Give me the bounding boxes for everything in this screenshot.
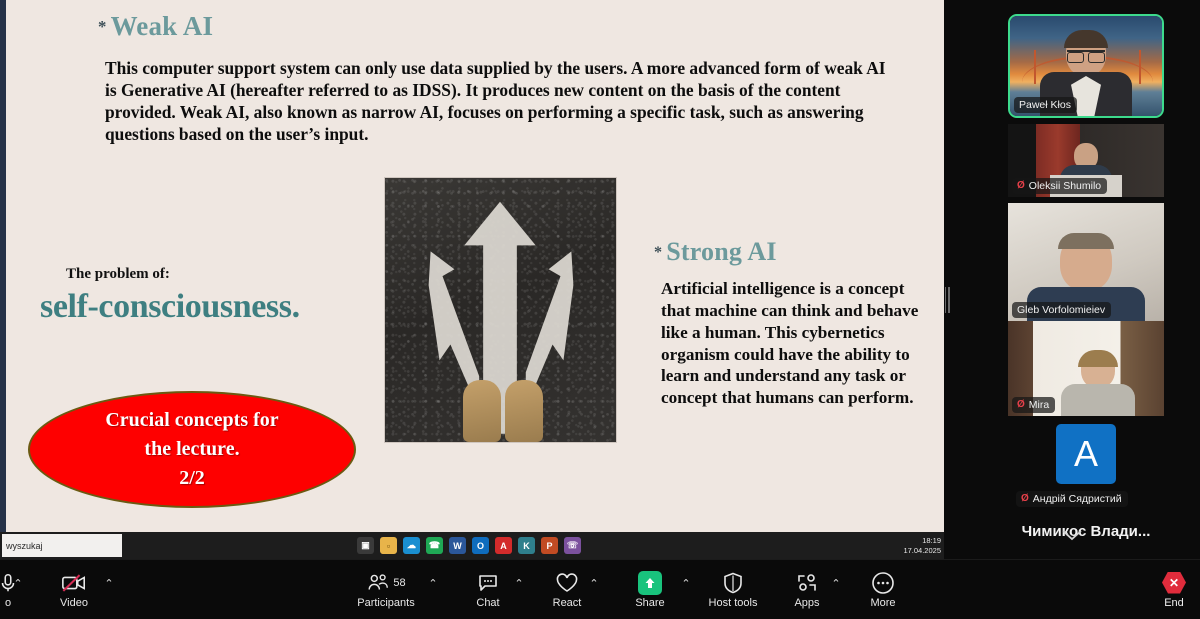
participants-count: 58 (393, 577, 405, 589)
shared-screen-region[interactable]: *Weak AI This computer support system ca… (0, 0, 944, 559)
problem-keyword: self-consciousness. (40, 288, 300, 326)
more-button[interactable]: More (860, 560, 906, 619)
share-button[interactable]: Share (626, 560, 674, 619)
filmstrip-drag-handle[interactable] (944, 283, 950, 317)
file-explorer-icon[interactable]: ▫ (380, 537, 397, 554)
viber-icon[interactable]: ☏ (564, 537, 581, 554)
right-shoe (505, 380, 543, 442)
windows-taskbar: wyszukaj ▣ ▫ ☁ ☎ W O A K P ☏ 18:19 17.04… (0, 532, 944, 559)
heart-icon (555, 571, 579, 595)
participant-name: Gleb Vorfolomieiev (1017, 304, 1105, 316)
chat-label: Chat (476, 598, 499, 609)
participant-name-chip: Ø Mira (1012, 397, 1055, 413)
mic-muted-icon: Ø (1017, 400, 1025, 410)
road-arrows-photo (384, 177, 617, 443)
clock-date: 17.04.2025 (903, 546, 941, 555)
taskbar-clock[interactable]: 18:19 17.04.2025 (903, 536, 941, 555)
participant-name-chip: Ø Андрій Сядристий (1016, 491, 1128, 507)
crucial-concepts-callout: Crucial concepts for the lecture. 2/2 (28, 391, 356, 508)
more-icon (871, 571, 895, 595)
bullet-glyph: * (98, 17, 107, 36)
filmstrip-scroll-down-chevron[interactable] (944, 528, 1200, 545)
powerpoint-icon[interactable]: P (541, 537, 558, 554)
participant-webcam-image (1061, 350, 1135, 416)
share-options-caret[interactable]: ⌃ (678, 560, 694, 619)
participant-name: Mira (1029, 399, 1049, 411)
kaspersky-icon[interactable]: K (518, 537, 535, 554)
weak-ai-heading: *Weak AI (98, 11, 213, 42)
react-label: React (553, 598, 582, 609)
share-label: Share (635, 598, 664, 609)
zoom-meeting-toolbar: o ⌃ Video ⌃ 58 (0, 559, 1200, 619)
clock-time: 18:19 (903, 536, 941, 545)
participant-name-chip: Gleb Vorfolomieiev (1012, 302, 1111, 318)
windows-search-box[interactable]: wyszukaj (2, 534, 122, 557)
participants-label: Participants (357, 598, 414, 609)
bullet-glyph: * (654, 244, 662, 261)
callout-line-2: the lecture. (144, 435, 239, 464)
presentation-slide: *Weak AI This computer support system ca… (6, 0, 944, 532)
apps-icon (795, 571, 819, 595)
video-button[interactable]: Video (52, 560, 96, 619)
host-tools-label: Host tools (709, 598, 758, 609)
audio-options-caret[interactable]: ⌃ (10, 560, 26, 619)
participant-filmstrip: Paweł Kłos Ø Oleksii Shumilo (944, 0, 1200, 559)
participant-name: Андрій Сядристий (1033, 493, 1122, 505)
video-options-caret[interactable]: ⌃ (101, 560, 117, 619)
apps-button[interactable]: Apps (785, 560, 829, 619)
participant-name: Paweł Kłos (1019, 99, 1071, 111)
mic-muted-icon: Ø (1021, 494, 1029, 504)
problem-label: The problem of: (66, 266, 170, 283)
word-icon[interactable]: W (449, 537, 466, 554)
strong-ai-heading: *Strong AI (654, 237, 777, 267)
video-tile-pawel-klos[interactable]: Paweł Kłos (1008, 14, 1164, 118)
participant-name-chip: Paweł Kłos (1014, 97, 1077, 113)
zoom-meeting-window: *Weak AI This computer support system ca… (0, 0, 1200, 619)
callout-line-3: 2/2 (179, 464, 205, 493)
chat-icon (477, 571, 499, 595)
video-off-icon (61, 571, 87, 595)
end-label: End (1164, 597, 1184, 609)
apps-label: Apps (794, 598, 819, 609)
share-screen-icon (638, 571, 662, 595)
taskbar-icon-row: ▣ ▫ ☁ ☎ W O A K P ☏ (357, 532, 581, 559)
task-view-icon[interactable]: ▣ (357, 537, 374, 554)
strong-ai-body-text: Artificial intelligence is a concept tha… (661, 278, 926, 409)
whatsapp-icon[interactable]: ☎ (426, 537, 443, 554)
end-call-icon: ✕ (1162, 572, 1186, 594)
video-tiles: Paweł Kłos Ø Oleksii Shumilo (1008, 14, 1164, 579)
participants-button[interactable]: 58 Participants (353, 560, 419, 619)
participant-name-chip: Ø Oleksii Shumilo (1012, 178, 1107, 194)
strong-ai-heading-text: Strong AI (666, 237, 776, 266)
chat-button[interactable]: Chat (465, 560, 511, 619)
avatar: A (1056, 424, 1116, 484)
acrobat-reader-icon[interactable]: A (495, 537, 512, 554)
bridge-tower-left (1034, 50, 1036, 84)
mic-muted-icon: Ø (1017, 181, 1025, 191)
apps-options-caret[interactable]: ⌃ (828, 560, 844, 619)
participants-options-caret[interactable]: ⌃ (425, 560, 441, 619)
chat-options-caret[interactable]: ⌃ (511, 560, 527, 619)
outlook-icon[interactable]: O (472, 537, 489, 554)
video-tile-gleb-vorfolomieiev[interactable]: Gleb Vorfolomieiev (1008, 203, 1164, 321)
react-button[interactable]: React (543, 560, 591, 619)
more-label: More (870, 598, 895, 609)
participant-name: Oleksii Shumilo (1029, 180, 1101, 192)
weak-ai-body-text: This computer support system can only us… (105, 58, 895, 146)
video-tile-oleksii-shumilo[interactable]: Ø Oleksii Shumilo (1008, 124, 1164, 197)
left-shoe (463, 380, 501, 442)
onedrive-icon[interactable]: ☁ (403, 537, 420, 554)
weak-ai-heading-text: Weak AI (111, 11, 214, 41)
end-meeting-button[interactable]: ✕ End (1162, 560, 1186, 619)
video-tile-mira[interactable]: Ø Mira (1008, 321, 1164, 416)
video-label: Video (60, 598, 88, 609)
bridge-tower-right (1139, 50, 1141, 84)
participants-icon: 58 (366, 571, 405, 595)
video-tile-andrii-siadrystyi[interactable]: A Ø Андрій Сядристий (1008, 424, 1164, 509)
shield-icon (723, 571, 743, 595)
callout-line-1: Crucial concepts for (105, 406, 278, 435)
react-options-caret[interactable]: ⌃ (586, 560, 602, 619)
host-tools-button[interactable]: Host tools (700, 560, 766, 619)
